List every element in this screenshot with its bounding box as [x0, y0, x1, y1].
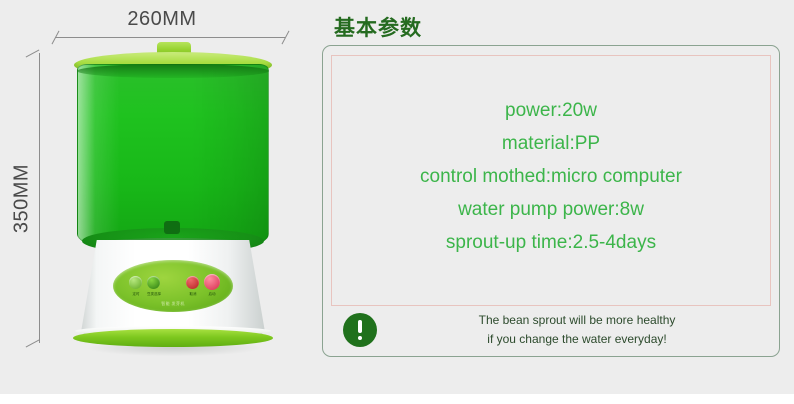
spec-line-water-pump-power: water pump power:8w	[331, 193, 771, 226]
product-dimension-panel: 260MM 350MM 定时 豆类选择	[0, 0, 318, 394]
bowl-rim	[77, 64, 269, 78]
bowl-drain-nub	[164, 221, 180, 234]
spec-line-control-method: control mothed:micro computer	[331, 160, 771, 193]
exclamation-dot	[358, 336, 362, 340]
height-dimension-label: 350MM	[11, 119, 34, 279]
width-dimension-line	[55, 37, 285, 38]
care-note-line-2: if you change the water everyday!	[391, 330, 763, 349]
power-button[interactable]	[204, 274, 220, 290]
exclamation-bar	[358, 320, 362, 333]
care-note-line-1: The bean sprout will be more healthy	[391, 311, 763, 330]
control-button-2[interactable]	[147, 276, 160, 289]
spec-list: power:20w material:PP control mothed:mic…	[331, 94, 771, 259]
spec-outer-box: power:20w material:PP control mothed:mic…	[322, 45, 780, 357]
exclamation-circle-icon	[343, 313, 377, 347]
control-button-3[interactable]	[186, 276, 199, 289]
spec-line-sprout-up-time: sprout-up time:2.5-4days	[331, 226, 771, 259]
panel-brand-text: 智能 发芽机	[143, 301, 203, 307]
care-note: The bean sprout will be more healthy if …	[343, 311, 763, 349]
specifications-panel: 基本参数 power:20w material:PP control mothe…	[322, 0, 782, 394]
spec-line-material: material:PP	[331, 127, 771, 160]
care-note-text: The bean sprout will be more healthy if …	[391, 311, 763, 349]
infographic-page: 260MM 350MM 定时 豆类选择	[0, 0, 794, 404]
control-button-1[interactable]	[129, 276, 142, 289]
product-image: 定时 豆类选择 取消 启动 智能 发芽机	[58, 42, 288, 352]
control-panel[interactable]: 定时 豆类选择 取消 启动 智能 发芽机	[113, 260, 233, 312]
height-tick-bottom-icon	[26, 340, 40, 348]
height-tick-top-icon	[26, 50, 40, 58]
spec-section-title: 基本参数	[334, 12, 422, 42]
base-green-ring	[73, 329, 273, 347]
bottom-white-strip	[0, 394, 794, 404]
width-dimension-label: 260MM	[62, 8, 262, 31]
spec-line-power: power:20w	[331, 94, 771, 127]
height-dimension-line	[39, 53, 40, 343]
power-button-label: 启动	[201, 292, 223, 297]
control-button-2-label: 豆类选择	[143, 292, 165, 297]
